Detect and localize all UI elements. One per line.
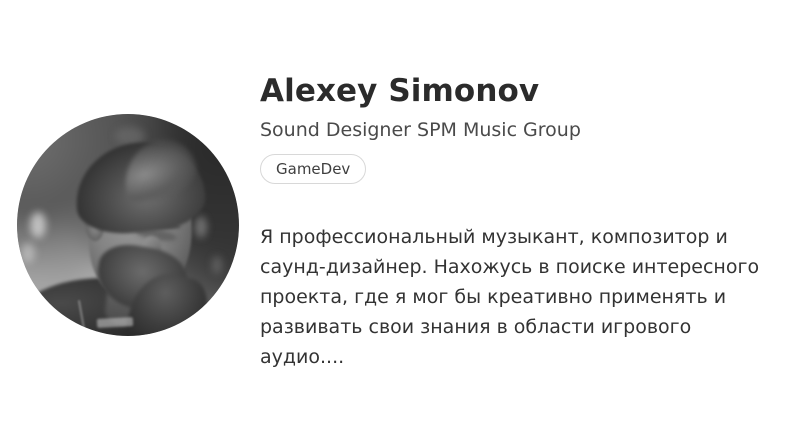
profile-tag-list: GameDev [260, 154, 780, 184]
profile-bio: Я профессиональный музыкант, композитор … [260, 222, 780, 372]
avatar-background-blur-spot [30, 212, 46, 238]
avatar-photo-icon [17, 114, 239, 336]
profile-tag-gamedev[interactable]: GameDev [260, 154, 366, 184]
profile-subtitle: Sound Designer SPM Music Group [260, 118, 780, 142]
avatar-background-blur-spot [195, 216, 207, 238]
avatar[interactable] [17, 114, 239, 336]
profile-name: Alexey Simonov [260, 72, 780, 110]
profile-info: Alexey Simonov Sound Designer SPM Music … [260, 72, 780, 372]
profile-card: Alexey Simonov Sound Designer SPM Music … [0, 0, 800, 443]
